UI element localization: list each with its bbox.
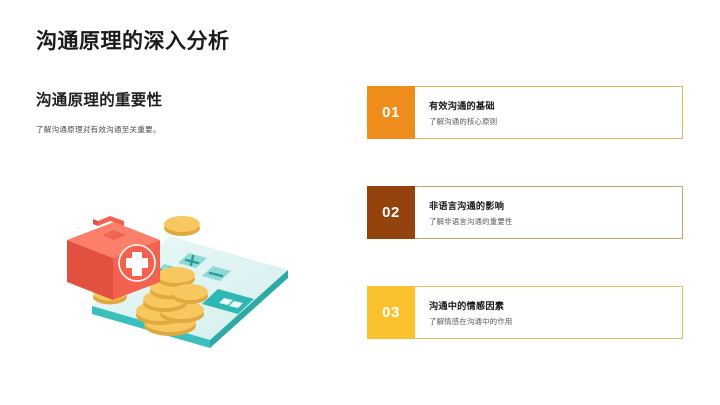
card-title: 非语言沟通的影响 — [429, 198, 682, 212]
card-number-badge: 02 — [367, 186, 415, 239]
card-description: 了解非语言沟通的重要性 — [429, 216, 682, 227]
card-description: 了解沟通的核心原则 — [429, 116, 682, 127]
card-title: 沟通中的情感因素 — [429, 298, 682, 312]
page-title: 沟通原理的深入分析 — [36, 25, 230, 55]
card-body: 非语言沟通的影响 了解非语言沟通的重要性 — [415, 186, 683, 239]
card-body: 有效沟通的基础 了解沟通的核心原则 — [415, 86, 683, 139]
slide-canvas: 沟通原理的深入分析 沟通原理的重要性 了解沟通原理对有效沟通至关重要。 — [0, 0, 720, 405]
illustration-svg — [52, 200, 310, 355]
list-item[interactable]: 01 有效沟通的基础 了解沟通的核心原则 — [367, 86, 683, 139]
illustration-medical-finance — [52, 200, 310, 355]
card-number-badge: 01 — [367, 86, 415, 139]
section-subtitle: 了解沟通原理对有效沟通至关重要。 — [36, 124, 336, 135]
numbered-cards-list: 01 有效沟通的基础 了解沟通的核心原则 02 非语言沟通的影响 了解非语言沟通… — [367, 86, 683, 339]
card-body: 沟通中的情感因素 了解情感在沟通中的作用 — [415, 286, 683, 339]
card-description: 了解情感在沟通中的作用 — [429, 316, 682, 327]
left-content-column: 沟通原理的重要性 了解沟通原理对有效沟通至关重要。 — [36, 88, 336, 135]
card-title: 有效沟通的基础 — [429, 98, 682, 112]
list-item[interactable]: 02 非语言沟通的影响 了解非语言沟通的重要性 — [367, 186, 683, 239]
section-heading: 沟通原理的重要性 — [36, 88, 336, 110]
medical-cross-icon — [118, 244, 156, 282]
list-item[interactable]: 03 沟通中的情感因素 了解情感在沟通中的作用 — [367, 286, 683, 339]
card-number-badge: 03 — [367, 286, 415, 339]
